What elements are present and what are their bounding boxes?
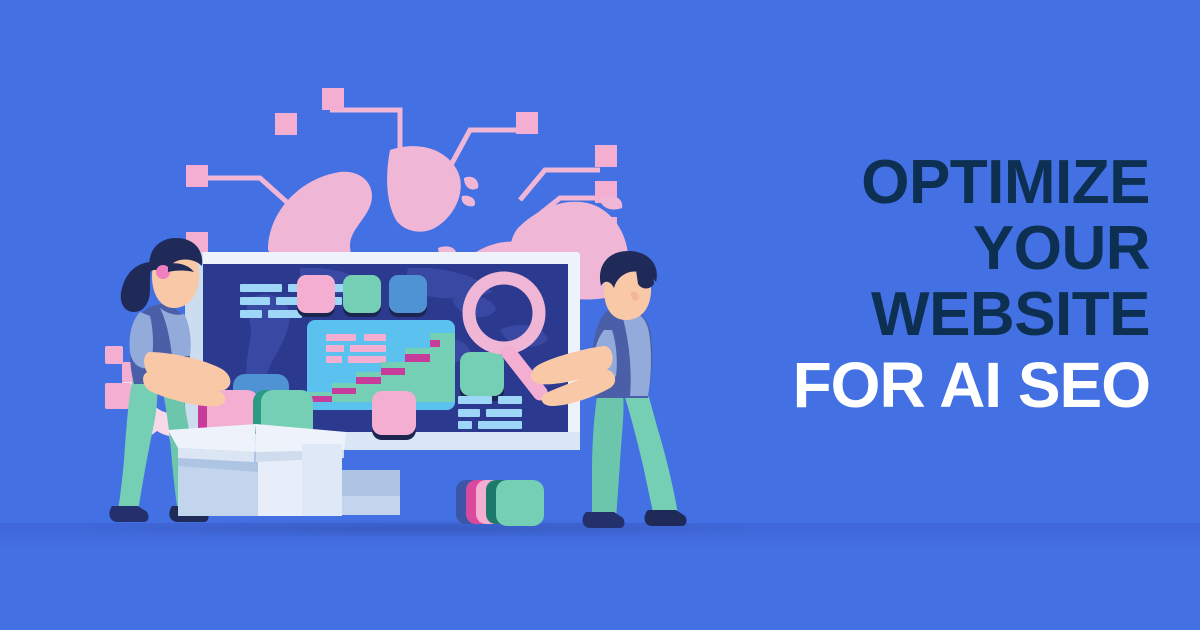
foreground-layer bbox=[0, 0, 720, 630]
shoe-back bbox=[583, 512, 625, 528]
shoe-front bbox=[645, 510, 687, 526]
hair-tie bbox=[156, 265, 170, 279]
headline-line-4: FOR AI SEO bbox=[690, 352, 1150, 418]
shoe-back bbox=[109, 506, 148, 522]
headline-line-2: YOUR bbox=[690, 216, 1150, 282]
open-cardboard-box bbox=[168, 424, 346, 516]
headline-block: OPTIMIZE YOUR WEBSITE FOR AI SEO bbox=[690, 150, 1150, 418]
leg-back bbox=[118, 378, 157, 512]
stacked-cards bbox=[456, 480, 544, 526]
man-holding-magnifier bbox=[531, 251, 687, 528]
ponytail bbox=[121, 262, 152, 312]
headline-line-1: OPTIMIZE bbox=[690, 150, 1150, 216]
poster-canvas: OPTIMIZE YOUR WEBSITE FOR AI SEO bbox=[0, 0, 1200, 630]
headline-line-3: WEBSITE bbox=[690, 282, 1150, 348]
leg-front bbox=[622, 386, 678, 518]
leg-back bbox=[592, 388, 624, 518]
illustration bbox=[0, 0, 720, 630]
